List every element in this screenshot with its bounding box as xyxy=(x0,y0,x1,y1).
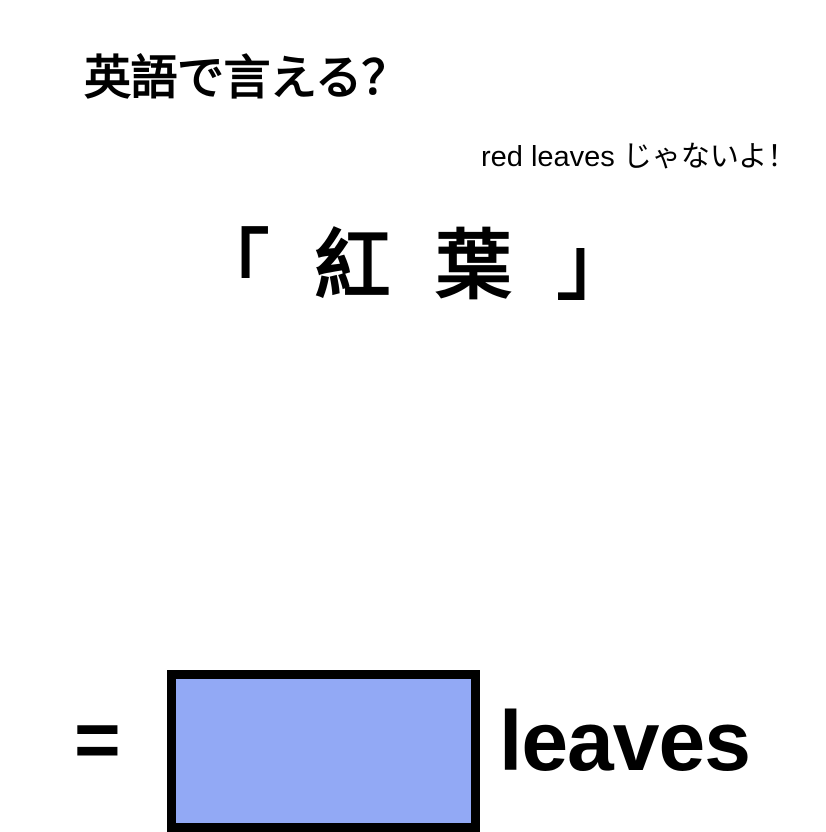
quiz-slide: 英語で言える？ red leaves じゃないよ！ 「 紅 葉 」 = leav… xyxy=(0,0,826,620)
hint-text: red leaves じゃないよ！ xyxy=(481,141,796,174)
answer-word: leaves xyxy=(499,699,750,783)
blank-answer-box xyxy=(167,670,480,832)
answer-row: = leaves xyxy=(0,330,826,520)
japanese-term: 「 紅 葉 」 xyxy=(0,225,826,309)
equals-sign: = xyxy=(74,700,121,780)
page-title: 英語で言える？ xyxy=(84,50,408,105)
